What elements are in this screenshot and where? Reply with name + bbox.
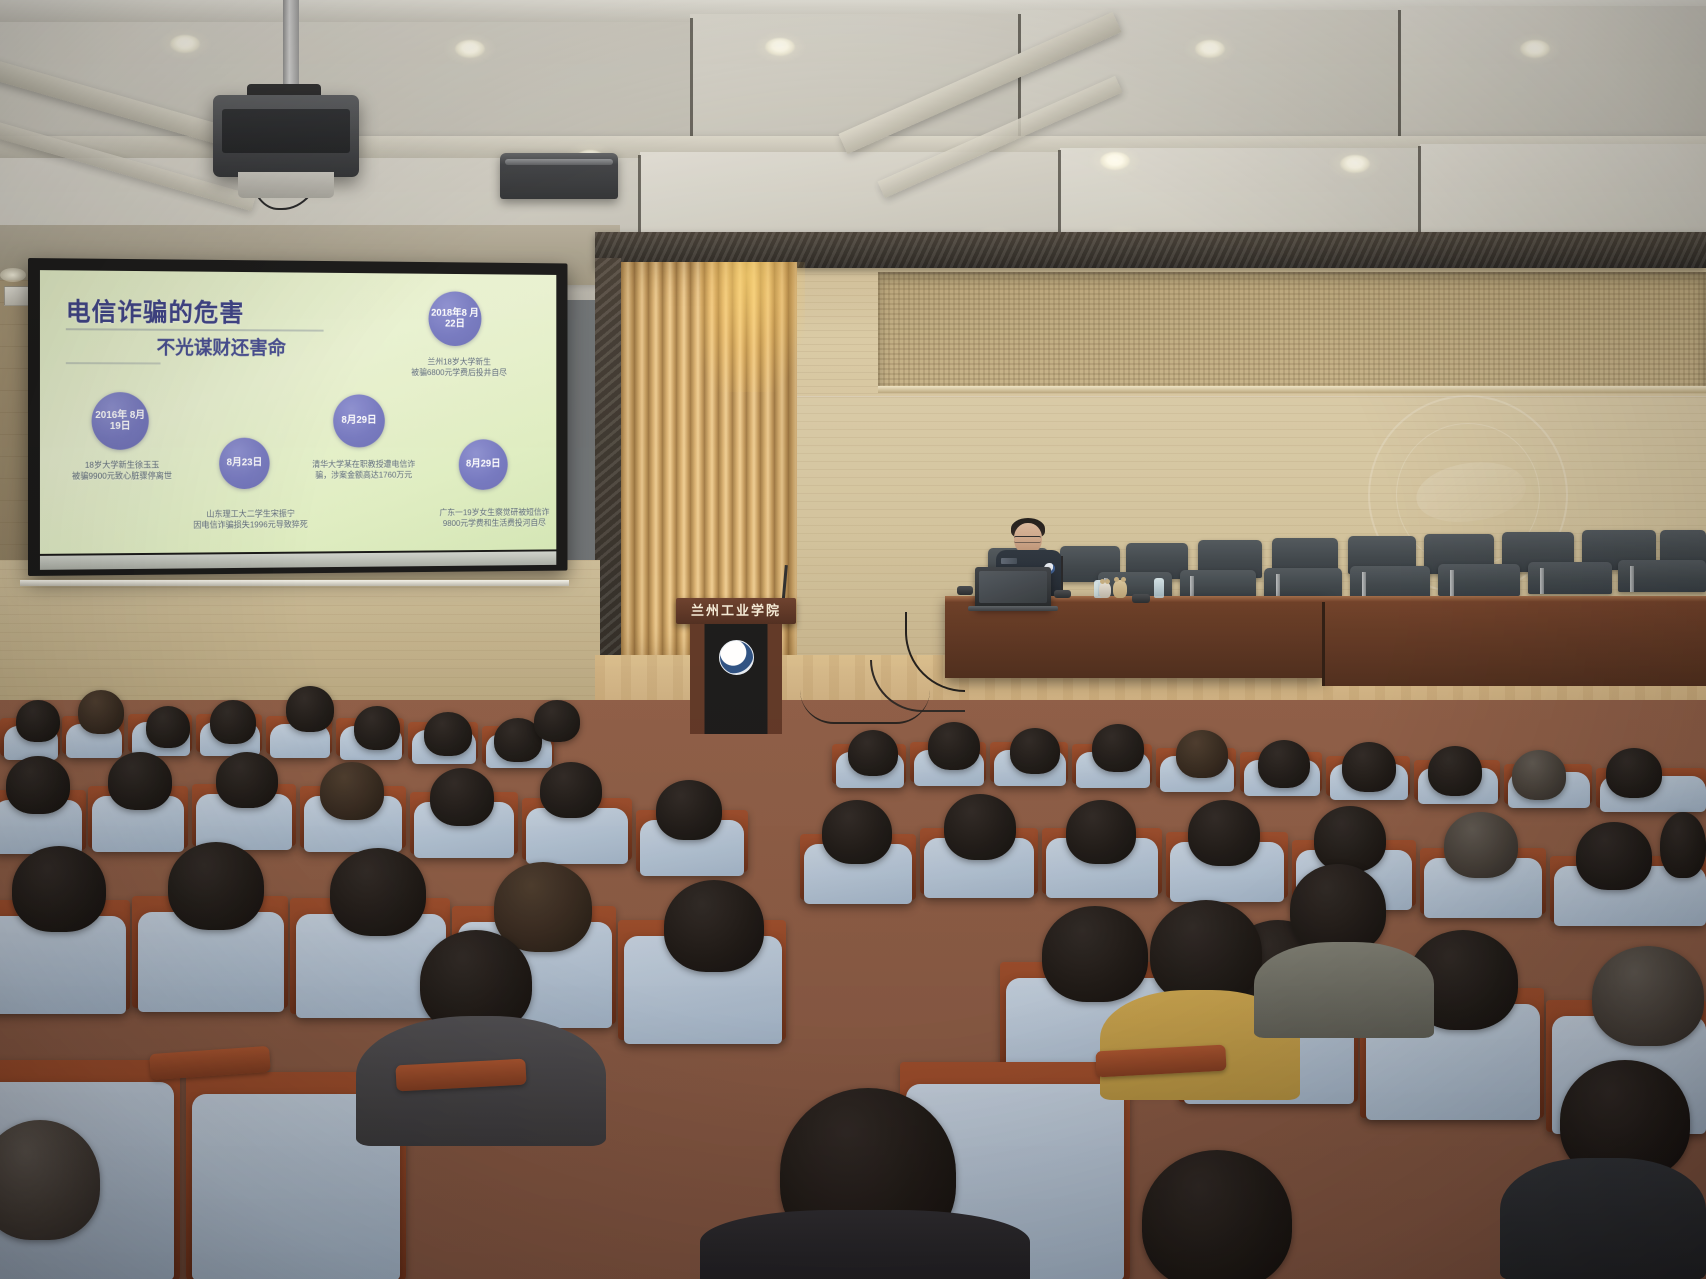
ceiling-downlight: [765, 38, 795, 56]
slide-subtitle: 不光谋财还害命: [157, 333, 286, 360]
timeline-caption: 山东理工大二学生宋振宁 因电信诈骗损失1996元导致猝死: [180, 508, 321, 530]
screen-mount-rail: [20, 580, 569, 586]
ceiling-speaker: [500, 153, 618, 199]
name-tag: [1001, 558, 1017, 564]
timeline-date-circle: 8月29日: [459, 439, 508, 490]
ceiling-projector: [213, 95, 359, 177]
ceiling-downlight: [455, 40, 485, 58]
screen-bottom-strip: [40, 551, 556, 570]
figurine: [1113, 580, 1127, 598]
desk-microphone-base: [957, 586, 973, 595]
ceiling-downlight: [1195, 40, 1225, 58]
auditorium-photo: 电信诈骗的危害 不光谋财还害命 2018年8 月22日 兰州18岁大学新生 被骗…: [0, 0, 1706, 1279]
figurine: [1099, 582, 1111, 598]
wall-inset-ledge: [878, 386, 1706, 393]
laptop-base: [968, 606, 1058, 611]
foreground-head: [1290, 864, 1386, 954]
table-seam: [1322, 600, 1325, 686]
ceiling-downlight: [1100, 152, 1130, 170]
school-logo-icon: [719, 640, 754, 675]
timeline-date-circle: 2018年8 月22日: [429, 291, 482, 346]
timeline-date-circle: 2016年 8月19日: [92, 392, 149, 450]
timeline-caption: 18岁大学新生徐玉玉 被骗9900元致心脏骤停离世: [52, 460, 192, 482]
power-cable: [800, 690, 930, 724]
presenter-laptop: [975, 567, 1051, 609]
head-table-section: [1325, 600, 1706, 686]
microphone-stalk: [1061, 556, 1063, 592]
timeline-caption: 兰州18岁大学新生 被骗6800元学费后投井自尽: [395, 356, 522, 378]
foreground-head: [1150, 900, 1262, 1004]
timeline-date-circle: 8月23日: [219, 438, 269, 489]
projector-base: [238, 172, 334, 198]
slide-divider: [66, 328, 324, 331]
desk-microphone-base: [1132, 594, 1150, 603]
foreground-head: [1142, 1150, 1292, 1279]
slide-surface: 电信诈骗的危害 不光谋财还害命 2018年8 月22日 兰州18岁大学新生 被骗…: [40, 270, 556, 554]
ceiling-downlight: [1520, 40, 1550, 58]
desk-microphone-base: [1054, 590, 1071, 598]
ceiling-downlight: [1340, 155, 1370, 173]
slide-divider-2: [66, 362, 161, 364]
podium-institution-label: 兰州工业学院: [676, 600, 796, 619]
timeline-date-circle: 8月29日: [333, 394, 385, 447]
projector-mount-pole: [283, 0, 299, 92]
foreground-shoulders: [700, 1210, 1030, 1279]
wall-inset-panel: [878, 272, 1706, 390]
timeline-caption: 清华大学某在职教授遭电信诈 骗，涉案金额高达1760万元: [293, 459, 434, 481]
water-bottle: [1154, 578, 1164, 598]
projection-screen: 电信诈骗的危害 不光谋财还害命 2018年8 月22日 兰州18岁大学新生 被骗…: [28, 258, 567, 576]
wall-light: [0, 268, 26, 282]
glasses-icon: [1014, 536, 1041, 543]
timeline-caption: 广东一19岁女生察觉研被短信诈 9800元学费和生活费投河自尽: [429, 507, 557, 529]
ceiling-downlight: [170, 35, 200, 53]
slide-title: 电信诈骗的危害: [66, 292, 245, 329]
